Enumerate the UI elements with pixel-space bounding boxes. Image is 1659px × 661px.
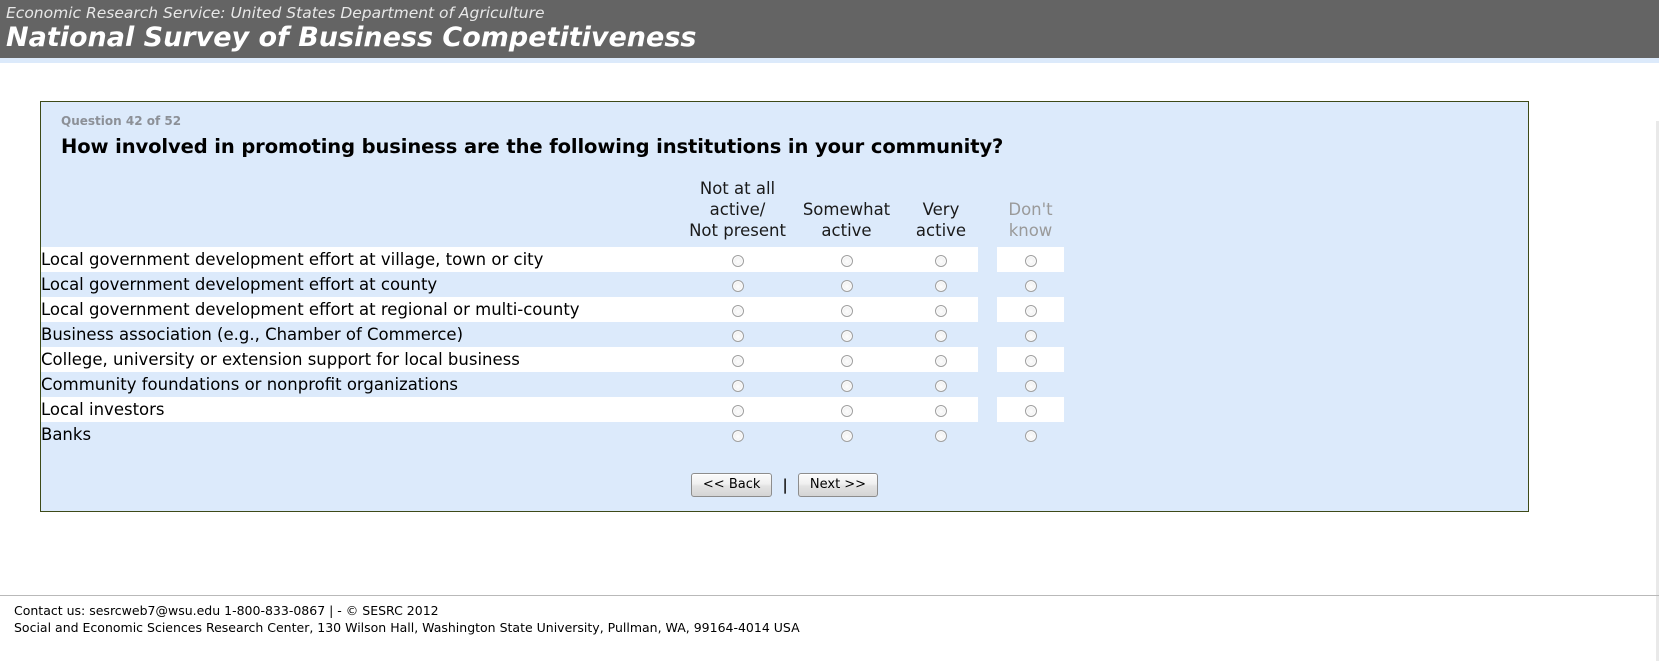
radio-cell-somewhat-active[interactable] [789, 297, 904, 322]
row-gap [978, 347, 997, 372]
radio-cell-dont-know[interactable] [997, 372, 1064, 397]
radio-button-very-active[interactable] [935, 305, 947, 317]
col-line-3: active [916, 221, 966, 240]
radio-button-somewhat-active[interactable] [841, 430, 853, 442]
table-row: Local investors [41, 397, 1528, 422]
row-gap [978, 297, 997, 322]
radio-button-dont-know[interactable] [1025, 380, 1037, 392]
row-label: Business association (e.g., Chamber of C… [41, 322, 686, 347]
row-label: Local government development effort at c… [41, 272, 686, 297]
agency-name: Economic Research Service: United States… [6, 4, 1659, 22]
radio-button-somewhat-active[interactable] [841, 380, 853, 392]
question-text: How involved in promoting business are t… [61, 135, 1528, 158]
matrix-tail [1064, 178, 1528, 247]
matrix-corner [41, 178, 686, 247]
radio-cell-somewhat-active[interactable] [789, 397, 904, 422]
radio-button-somewhat-active[interactable] [841, 330, 853, 342]
row-label: Community foundations or nonprofit organ… [41, 372, 686, 397]
radio-button-very-active[interactable] [935, 355, 947, 367]
radio-button-very-active[interactable] [935, 405, 947, 417]
footer-contact-line: Contact us: sesrcweb7@wsu.edu 1-800-833-… [14, 602, 800, 619]
col-line-2: Somewhat [803, 200, 890, 219]
radio-button-dont-know[interactable] [1025, 355, 1037, 367]
radio-button-not-active[interactable] [732, 405, 744, 417]
radio-cell-not-active[interactable] [686, 422, 789, 447]
table-row: Business association (e.g., Chamber of C… [41, 322, 1528, 347]
radio-button-not-active[interactable] [732, 255, 744, 267]
radio-cell-somewhat-active[interactable] [789, 422, 904, 447]
radio-cell-not-active[interactable] [686, 347, 789, 372]
column-header-dont-know: Don't know [997, 178, 1064, 247]
col-line-2: Don't [1008, 200, 1052, 219]
table-row: Local government development effort at c… [41, 272, 1528, 297]
radio-cell-dont-know[interactable] [997, 422, 1064, 447]
col-line-2: active/ [710, 200, 766, 219]
row-tail [1064, 322, 1528, 347]
radio-cell-very-active[interactable] [904, 297, 978, 322]
radio-button-dont-know[interactable] [1025, 280, 1037, 292]
radio-cell-not-active[interactable] [686, 297, 789, 322]
radio-button-not-active[interactable] [732, 305, 744, 317]
radio-button-not-active[interactable] [732, 430, 744, 442]
radio-cell-very-active[interactable] [904, 397, 978, 422]
page-footer: Contact us: sesrcweb7@wsu.edu 1-800-833-… [14, 602, 800, 636]
radio-cell-dont-know[interactable] [997, 297, 1064, 322]
row-tail [1064, 372, 1528, 397]
radio-button-somewhat-active[interactable] [841, 405, 853, 417]
footer-divider [0, 595, 1659, 596]
row-tail [1064, 422, 1528, 447]
row-label: Local government development effort at r… [41, 297, 686, 322]
row-gap [978, 272, 997, 297]
radio-button-very-active[interactable] [935, 330, 947, 342]
radio-cell-somewhat-active[interactable] [789, 247, 904, 272]
col-line-3: Not present [689, 221, 786, 240]
column-header-not-active: Not at all active/ Not present [686, 178, 789, 247]
radio-cell-very-active[interactable] [904, 322, 978, 347]
radio-cell-dont-know[interactable] [997, 272, 1064, 297]
content-area: Question 42 of 52 How involved in promot… [0, 63, 1659, 603]
radio-button-very-active[interactable] [935, 255, 947, 267]
row-label: Banks [41, 422, 686, 447]
row-tail [1064, 397, 1528, 422]
row-gap [978, 372, 997, 397]
table-row: College, university or extension support… [41, 347, 1528, 372]
radio-button-dont-know[interactable] [1025, 405, 1037, 417]
radio-button-not-active[interactable] [732, 280, 744, 292]
radio-cell-somewhat-active[interactable] [789, 347, 904, 372]
back-button[interactable]: << Back [691, 473, 772, 497]
radio-cell-very-active[interactable] [904, 422, 978, 447]
navigation-bar: << Back | Next >> [41, 473, 1528, 497]
radio-button-somewhat-active[interactable] [841, 255, 853, 267]
col-line-3: know [1009, 221, 1053, 240]
radio-button-somewhat-active[interactable] [841, 355, 853, 367]
radio-cell-somewhat-active[interactable] [789, 372, 904, 397]
survey-title: National Survey of Business Competitiven… [6, 21, 1659, 55]
col-line-3: active [821, 221, 871, 240]
radio-button-very-active[interactable] [935, 280, 947, 292]
radio-cell-very-active[interactable] [904, 372, 978, 397]
radio-cell-somewhat-active[interactable] [789, 272, 904, 297]
table-row: Banks [41, 422, 1528, 447]
column-header-very-active: Very active [904, 178, 978, 247]
row-gap [978, 397, 997, 422]
row-tail [1064, 272, 1528, 297]
question-progress: Question 42 of 52 [61, 114, 1528, 128]
radio-button-dont-know[interactable] [1025, 430, 1037, 442]
radio-cell-dont-know[interactable] [997, 347, 1064, 372]
nav-separator: | [781, 478, 788, 493]
radio-cell-very-active[interactable] [904, 247, 978, 272]
radio-button-dont-know[interactable] [1025, 305, 1037, 317]
radio-button-dont-know[interactable] [1025, 330, 1037, 342]
radio-button-very-active[interactable] [935, 430, 947, 442]
table-row: Local government development effort at v… [41, 247, 1528, 272]
radio-cell-not-active[interactable] [686, 322, 789, 347]
radio-cell-somewhat-active[interactable] [789, 322, 904, 347]
footer-address-line: Social and Economic Sciences Research Ce… [14, 619, 800, 636]
matrix-gap [978, 178, 997, 247]
radio-cell-not-active[interactable] [686, 272, 789, 297]
radio-cell-not-active[interactable] [686, 247, 789, 272]
row-gap [978, 422, 997, 447]
radio-button-not-active[interactable] [732, 330, 744, 342]
radio-cell-not-active[interactable] [686, 372, 789, 397]
radio-button-not-active[interactable] [732, 355, 744, 367]
radio-cell-very-active[interactable] [904, 272, 978, 297]
row-gap [978, 322, 997, 347]
response-matrix: Not at all active/ Not present Somewhat … [41, 178, 1528, 447]
radio-button-not-active[interactable] [732, 380, 744, 392]
col-line-2: Very [923, 200, 960, 219]
matrix-header: Not at all active/ Not present Somewhat … [41, 178, 1528, 247]
radio-cell-dont-know[interactable] [997, 322, 1064, 347]
row-label: College, university or extension support… [41, 347, 686, 372]
radio-button-very-active[interactable] [935, 380, 947, 392]
table-row: Local government development effort at r… [41, 297, 1528, 322]
radio-button-dont-know[interactable] [1025, 255, 1037, 267]
column-header-somewhat-active: Somewhat active [789, 178, 904, 247]
radio-cell-dont-know[interactable] [997, 247, 1064, 272]
row-label: Local government development effort at v… [41, 247, 686, 272]
row-tail [1064, 297, 1528, 322]
row-tail [1064, 247, 1528, 272]
table-row: Community foundations or nonprofit organ… [41, 372, 1528, 397]
site-header: Economic Research Service: United States… [0, 0, 1659, 58]
row-gap [978, 247, 997, 272]
question-panel: Question 42 of 52 How involved in promot… [40, 101, 1529, 512]
next-button[interactable]: Next >> [798, 473, 878, 497]
radio-cell-very-active[interactable] [904, 347, 978, 372]
radio-button-somewhat-active[interactable] [841, 305, 853, 317]
radio-button-somewhat-active[interactable] [841, 280, 853, 292]
row-label: Local investors [41, 397, 686, 422]
radio-cell-dont-know[interactable] [997, 397, 1064, 422]
row-tail [1064, 347, 1528, 372]
radio-cell-not-active[interactable] [686, 397, 789, 422]
matrix-body: Local government development effort at v… [41, 247, 1528, 447]
col-line-1: Not at all [700, 179, 775, 198]
